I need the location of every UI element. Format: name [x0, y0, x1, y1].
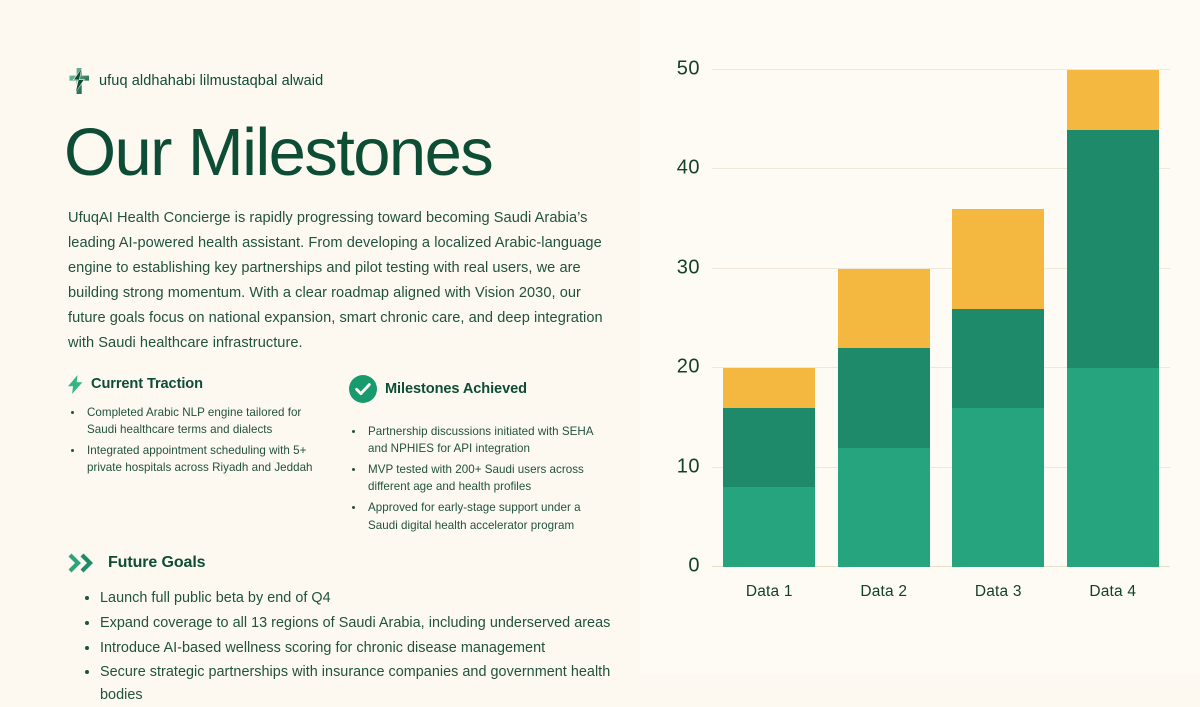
x-axis-tick-label: Data 1	[723, 583, 815, 601]
list-item: Integrated appointment scheduling with 5…	[84, 442, 331, 477]
double-chevron-right-icon	[68, 553, 98, 573]
current-traction-title: Current Traction	[91, 376, 203, 392]
milestones-achieved-section: Milestones Achieved Partnership discussi…	[349, 375, 612, 538]
milestones-achieved-title: Milestones Achieved	[385, 381, 527, 397]
bar-segment[interactable]	[838, 448, 930, 567]
list-item: Introduce AI-based wellness scoring for …	[100, 637, 612, 660]
bar-segment[interactable]	[723, 487, 815, 567]
current-traction-list: Completed Arabic NLP engine tailored for…	[84, 404, 331, 477]
bar-segment[interactable]	[1067, 70, 1159, 130]
stacked-bar[interactable]	[952, 209, 1044, 567]
page-title: Our Milestones	[64, 119, 612, 186]
future-goals-header: Future Goals	[68, 553, 612, 573]
chart-panel: 01020304050 Data 1Data 2Data 3Data 4	[640, 0, 1200, 675]
y-axis-tick-label: 50	[677, 58, 700, 81]
bar-column[interactable]: Data 4	[1067, 70, 1159, 567]
current-traction-header: Current Traction	[68, 375, 331, 394]
brand-lockup: ufuq aldhahabi lilmustaqbal alwaid	[68, 68, 612, 94]
bar-segment[interactable]	[1067, 130, 1159, 369]
bar-column[interactable]: Data 1	[723, 70, 815, 567]
bar-column[interactable]: Data 2	[838, 70, 930, 567]
check-circle-icon	[349, 375, 377, 403]
bar-segment[interactable]	[723, 408, 815, 488]
list-item: MVP tested with 200+ Saudi users across …	[365, 461, 612, 496]
x-axis-tick-label: Data 4	[1067, 583, 1159, 601]
bar-segment[interactable]	[952, 309, 1044, 408]
stacked-bar-chart: 01020304050 Data 1Data 2Data 3Data 4	[656, 46, 1184, 631]
milestones-achieved-list: Partnership discussions initiated with S…	[365, 423, 612, 535]
list-item: Partnership discussions initiated with S…	[365, 423, 612, 458]
y-axis-tick-label: 20	[677, 356, 700, 379]
future-goals-title: Future Goals	[108, 554, 205, 572]
y-axis-tick-label: 10	[677, 455, 700, 478]
lightning-bolt-icon	[68, 375, 83, 394]
y-axis-tick-label: 40	[677, 157, 700, 180]
x-axis-tick-label: Data 3	[952, 583, 1044, 601]
future-goals-section: Future Goals Launch full public beta by …	[68, 553, 612, 707]
bar-segment[interactable]	[838, 348, 930, 447]
content-column: ufuq aldhahabi lilmustaqbal alwaid Our M…	[0, 0, 640, 675]
y-axis-tick-label: 30	[677, 256, 700, 279]
bar-segment[interactable]	[838, 269, 930, 349]
stacked-bar[interactable]	[1067, 70, 1159, 567]
future-goals-list: Launch full public beta by end of Q4 Exp…	[100, 587, 612, 707]
bar-segment[interactable]	[952, 209, 1044, 308]
bar-segment[interactable]	[723, 368, 815, 408]
list-item: Expand coverage to all 13 regions of Sau…	[100, 612, 612, 635]
plot-area: 01020304050 Data 1Data 2Data 3Data 4	[712, 70, 1170, 567]
slide: ufuq aldhahabi lilmustaqbal alwaid Our M…	[0, 0, 1200, 675]
bar-column[interactable]: Data 3	[952, 70, 1044, 567]
y-axis-tick-label: 0	[688, 555, 700, 578]
two-column-lists: Current Traction Completed Arabic NLP en…	[68, 375, 612, 538]
bar-segment[interactable]	[1067, 368, 1159, 567]
list-item: Approved for early-stage support under a…	[365, 499, 612, 534]
bar-group: Data 1Data 2Data 3Data 4	[712, 70, 1170, 567]
current-traction-section: Current Traction Completed Arabic NLP en…	[68, 375, 331, 538]
stacked-bar[interactable]	[723, 368, 815, 567]
list-item: Launch full public beta by end of Q4	[100, 587, 612, 610]
x-axis-tick-label: Data 2	[838, 583, 930, 601]
list-item: Secure strategic partnerships with insur…	[100, 661, 612, 707]
medical-cross-bolt-icon	[68, 68, 90, 94]
brand-name: ufuq aldhahabi lilmustaqbal alwaid	[99, 73, 323, 89]
intro-paragraph: UfuqAI Health Concierge is rapidly progr…	[68, 206, 608, 357]
stacked-bar[interactable]	[838, 269, 930, 567]
milestones-achieved-header: Milestones Achieved	[349, 375, 612, 403]
list-item: Completed Arabic NLP engine tailored for…	[84, 404, 331, 439]
bar-segment[interactable]	[952, 408, 1044, 567]
